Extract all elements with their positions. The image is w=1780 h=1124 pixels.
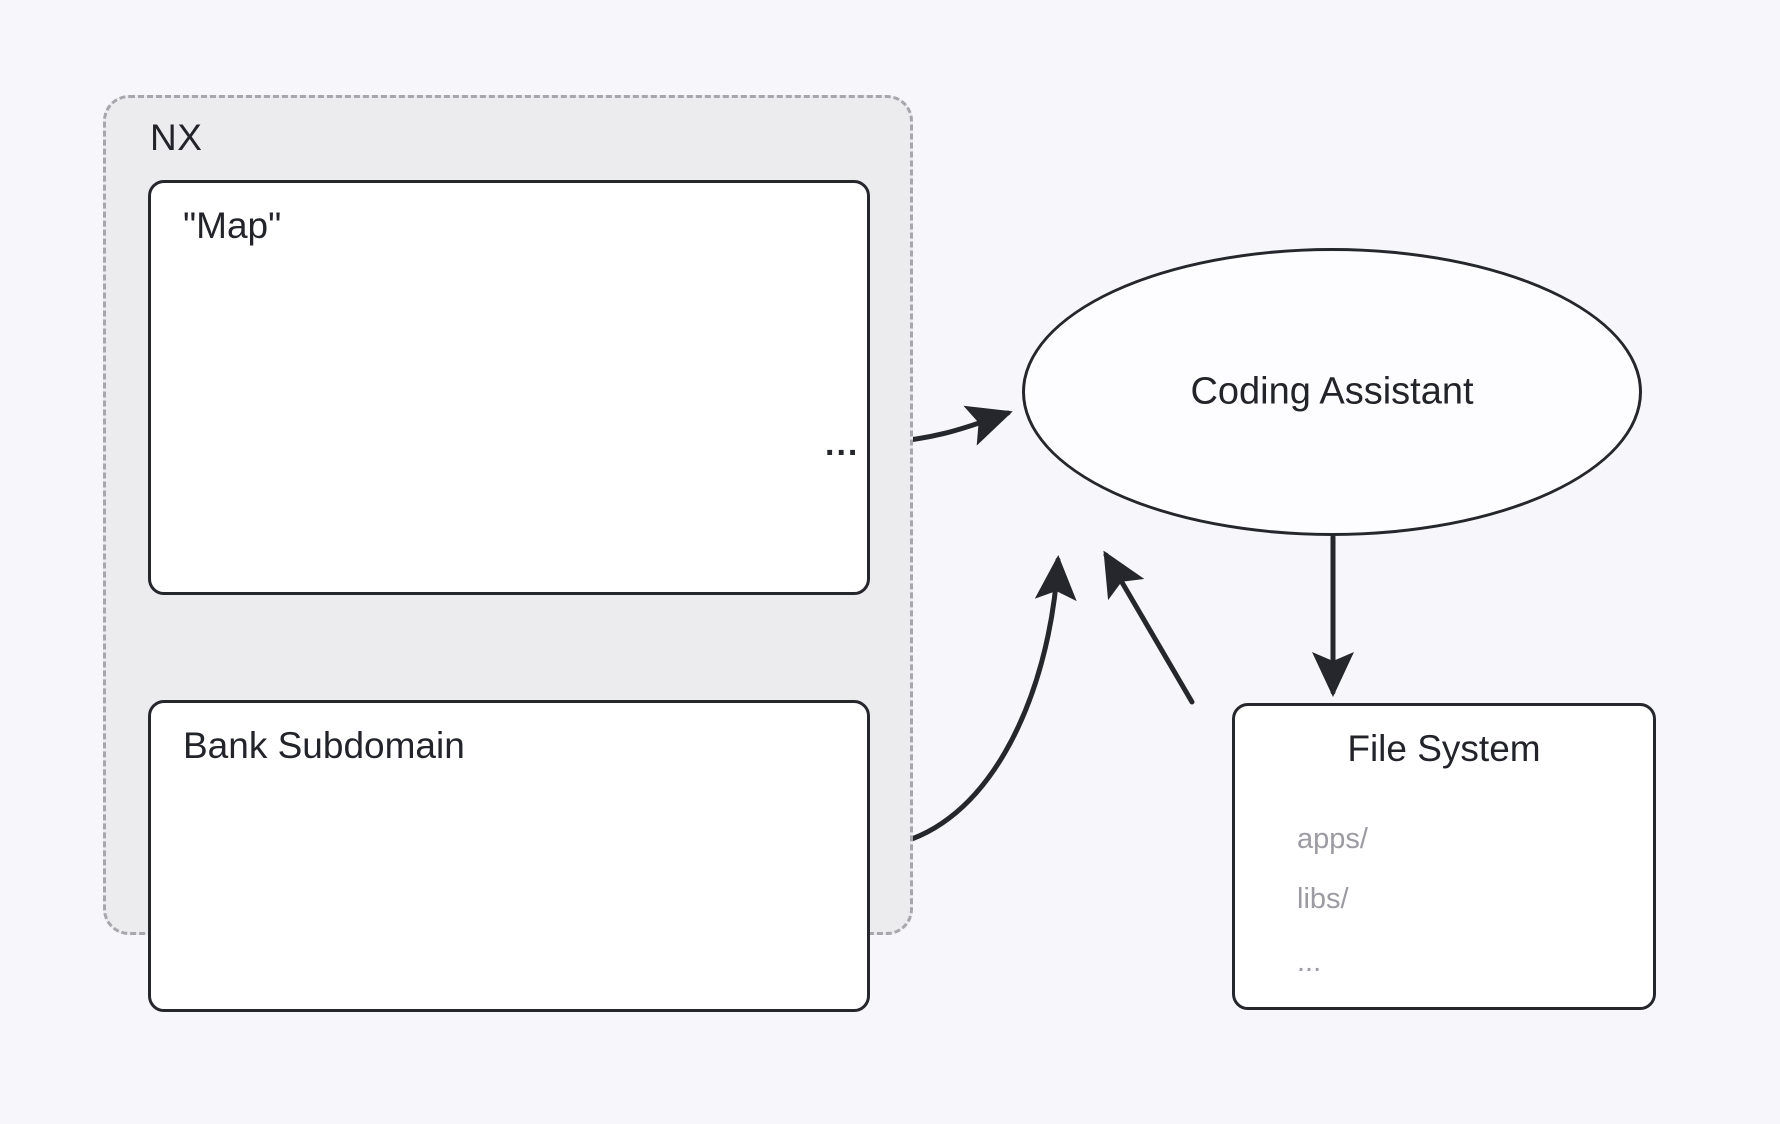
coding-assistant-label: Coding Assistant: [1025, 371, 1639, 414]
map-card[interactable]: "Map": [148, 180, 870, 595]
bank-subdomain-title: Bank Subdomain: [183, 725, 465, 767]
map-graph-ellipsis: ...: [825, 425, 859, 464]
bank-subdomain-card[interactable]: Bank Subdomain: [148, 700, 870, 1012]
file-system-title: File System: [1235, 728, 1653, 770]
file-system-card[interactable]: File System apps/ libs/ ...: [1232, 703, 1656, 1010]
map-card-title: "Map": [183, 205, 281, 247]
file-system-entry: apps/: [1297, 823, 1368, 856]
connector-filesystem-to-assistant: [1106, 555, 1192, 702]
file-system-entry: libs/: [1297, 883, 1349, 916]
diagram-canvas: NX "Map" ... Bank Subdomain Coding Assis…: [0, 0, 1780, 1124]
nx-label: NX: [150, 117, 202, 159]
file-system-entry: ...: [1297, 946, 1321, 979]
coding-assistant-node[interactable]: Coding Assistant: [1022, 248, 1642, 536]
